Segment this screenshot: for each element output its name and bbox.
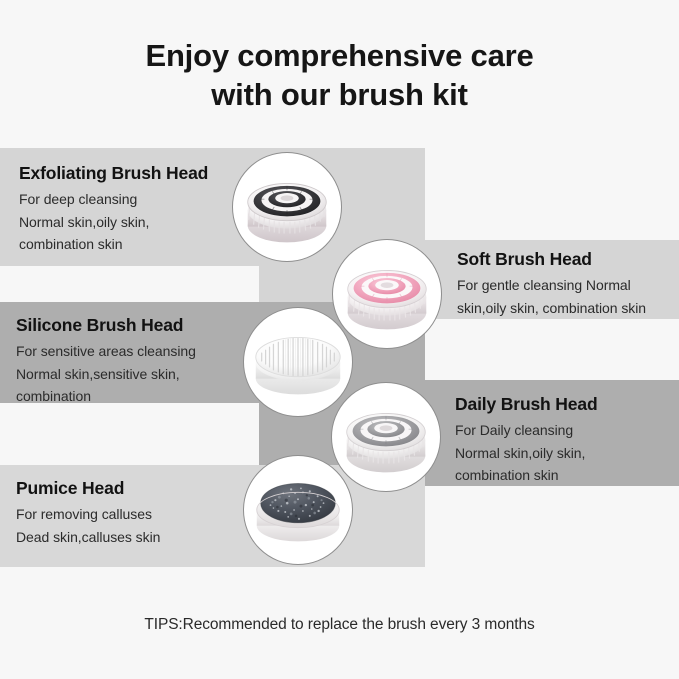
head-desc-soft: For gentle cleansing Normal skin,oily sk… [457,274,672,319]
desc-line: combination skin [455,464,670,487]
desc-line: For Daily cleansing [455,419,670,442]
exfoliating-brush-illustration [233,153,341,261]
product-image-silicone [243,307,353,417]
product-image-daily [331,382,441,492]
silicone-brush-illustration [244,308,352,416]
product-image-exfoliating [232,152,342,262]
text-block-daily: Daily Brush Head For Daily cleansing Nor… [455,394,670,487]
daily-brush-illustration [332,383,440,491]
desc-line: For gentle cleansing Normal [457,274,672,297]
head-title-daily: Daily Brush Head [455,394,670,415]
pumice-head-illustration [244,456,352,564]
page-title-line-1: Enjoy comprehensive care [0,36,679,75]
product-image-soft [332,239,442,349]
head-desc-daily: For Daily cleansing Normal skin,oily ski… [455,419,670,487]
head-title-soft: Soft Brush Head [457,249,672,270]
product-image-pumice [243,455,353,565]
text-block-soft: Soft Brush Head For gentle cleansing Nor… [457,249,672,319]
page-title: Enjoy comprehensive care with our brush … [0,36,679,114]
page-title-line-2: with our brush kit [0,75,679,114]
tips-text: TIPS:Recommended to replace the brush ev… [0,616,679,634]
brush-kit-infographic: Enjoy comprehensive care with our brush … [0,0,679,679]
soft-brush-illustration [333,240,441,348]
desc-line: skin,oily skin, combination skin [457,297,672,320]
desc-line: Normal skin,oily skin, [455,442,670,465]
